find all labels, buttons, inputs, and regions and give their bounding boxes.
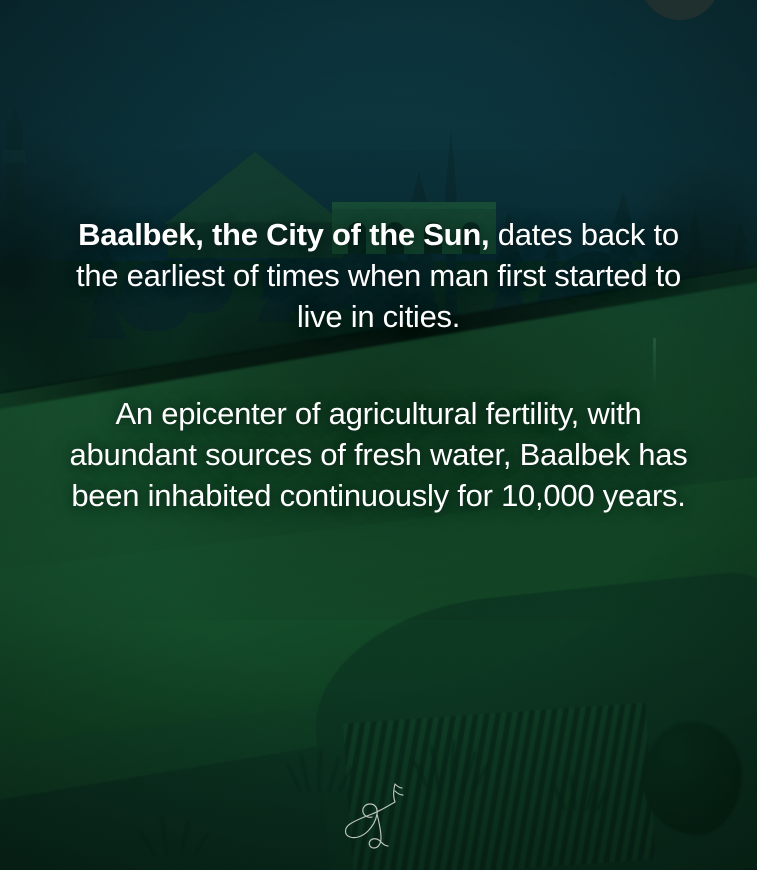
boulder: [643, 722, 741, 835]
building-parapet: [332, 202, 496, 209]
scrub-bush: [560, 770, 610, 810]
headline: Baalbek, the City of the Sun, dates back…: [58, 214, 699, 338]
body-paragraph: An epicenter of agricultural fertility, …: [58, 393, 699, 517]
headline-lead: Baalbek, the City of the Sun,: [78, 217, 489, 252]
poster-canvas: Baalbek, the City of the Sun, dates back…: [0, 0, 757, 870]
bird-line-art-logo: [331, 778, 427, 852]
scrub-bush: [424, 738, 484, 790]
bird-glyph-icon: [331, 778, 427, 852]
scrub-bush: [150, 812, 208, 856]
caption-text-block: Baalbek, the City of the Sun, dates back…: [0, 214, 757, 516]
